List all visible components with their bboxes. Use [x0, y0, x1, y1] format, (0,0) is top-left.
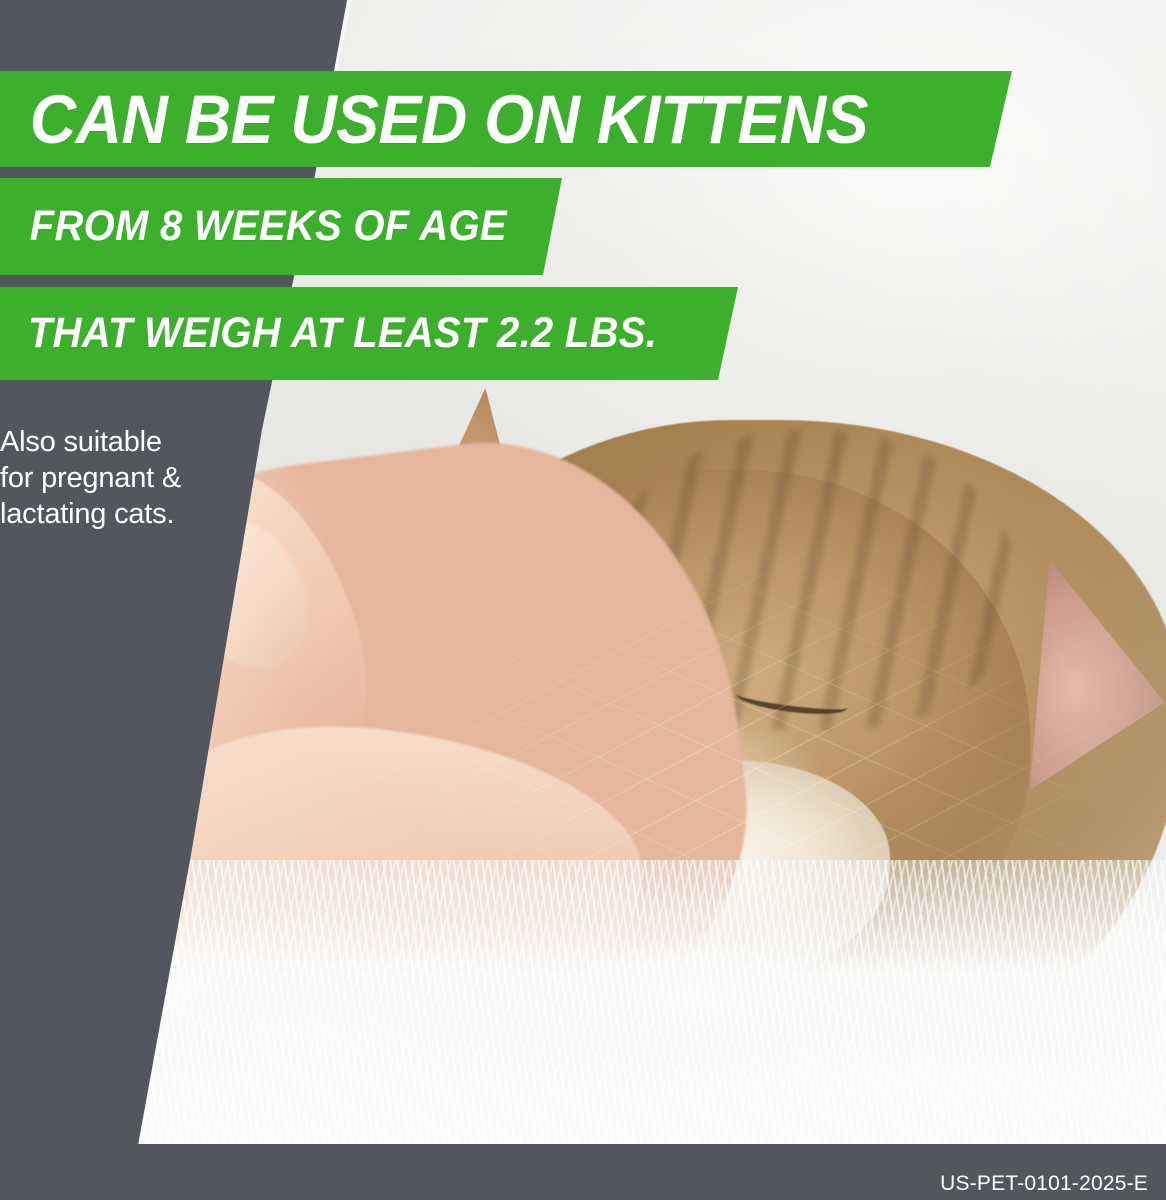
headline-banner-secondary: FROM 8 WEEKS OF AGE — [0, 178, 570, 275]
footer-bar: US-PET-0101-2025-E — [0, 1144, 1166, 1200]
promo-panel: CAN BE USED ON KITTENS FROM 8 WEEKS OF A… — [0, 0, 1166, 1200]
supplementary-note: Also suitable for pregnant & lactating c… — [0, 425, 245, 533]
supplementary-note-line-3: lactating cats. — [0, 497, 245, 533]
headline-banner-tertiary: THAT WEIGH AT LEAST 2.2 LBS. — [0, 287, 745, 380]
headline-banner-primary: CAN BE USED ON KITTENS — [0, 71, 1020, 167]
document-code: US-PET-0101-2025-E — [940, 1172, 1148, 1196]
headline-tertiary-text: THAT WEIGH AT LEAST 2.2 LBS. — [0, 309, 657, 358]
headline-secondary-text: FROM 8 WEEKS OF AGE — [0, 202, 507, 251]
supplementary-note-line-2: for pregnant & — [0, 461, 245, 497]
supplementary-note-line-1: Also suitable — [0, 425, 245, 461]
headline-primary-text: CAN BE USED ON KITTENS — [0, 80, 868, 159]
